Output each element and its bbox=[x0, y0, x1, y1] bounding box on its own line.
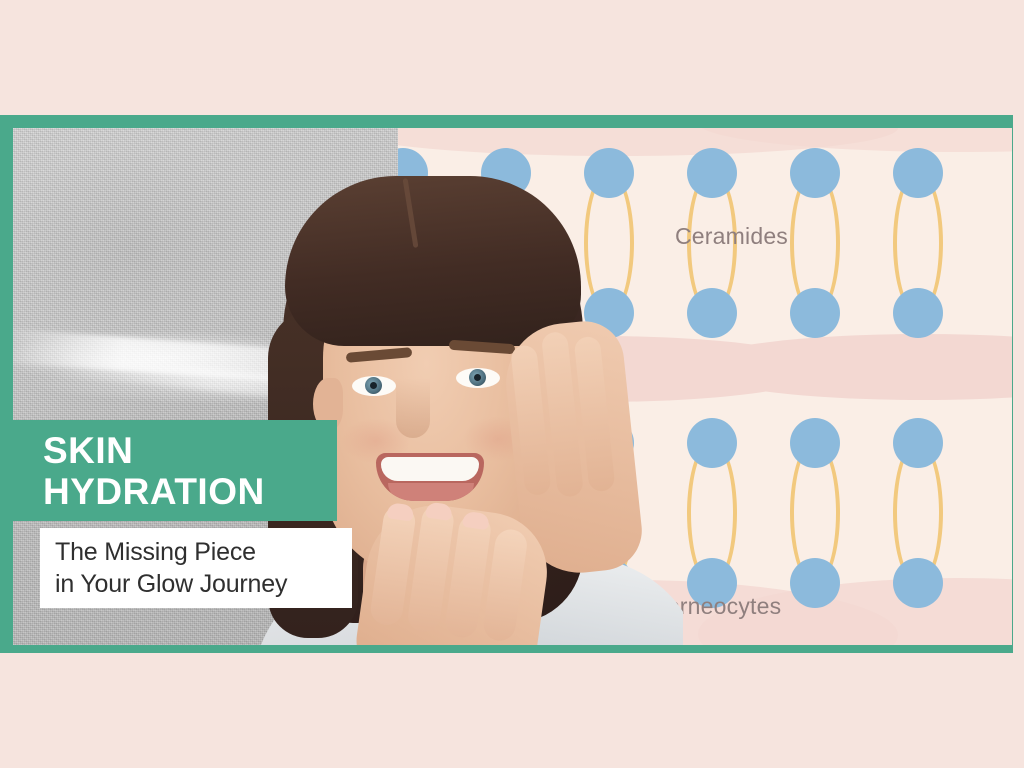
ceramide-head-bottom bbox=[790, 288, 840, 338]
subheadline-line-2: in Your Glow Journey bbox=[55, 568, 352, 600]
portrait-hair-front bbox=[285, 176, 581, 346]
framed-card: Ceramides Corneocytes bbox=[0, 115, 1013, 653]
ceramide-head-top bbox=[687, 148, 737, 198]
headline-line-1: SKIN bbox=[43, 430, 337, 471]
portrait-teeth bbox=[381, 457, 479, 481]
headline-box: SKIN HYDRATION bbox=[13, 420, 337, 521]
ceramide-head-bottom bbox=[687, 288, 737, 338]
subheadline-box: The Missing Piece in Your Glow Journey bbox=[40, 528, 352, 608]
portrait-pupil-right bbox=[474, 374, 481, 381]
portrait-fingernail bbox=[462, 511, 490, 530]
ceramide-unit bbox=[782, 418, 848, 608]
portrait-mouth bbox=[376, 453, 484, 501]
diagram-label-ceramides: Ceramides bbox=[675, 223, 788, 250]
ceramide-head-top bbox=[687, 418, 737, 468]
ceramide-unit bbox=[885, 148, 951, 338]
ceramide-head-bottom bbox=[790, 558, 840, 608]
portrait-pupil-left bbox=[370, 382, 377, 389]
ceramide-head-bottom bbox=[893, 558, 943, 608]
card-inner-canvas: Ceramides Corneocytes bbox=[13, 128, 1012, 645]
ceramide-unit bbox=[782, 148, 848, 338]
ceramide-head-top bbox=[790, 418, 840, 468]
subheadline-line-1: The Missing Piece bbox=[55, 536, 352, 568]
ceramide-head-bottom bbox=[893, 288, 943, 338]
portrait-lower-lip bbox=[388, 483, 474, 501]
ceramide-unit bbox=[885, 418, 951, 608]
headline-line-2: HYDRATION bbox=[43, 471, 337, 512]
portrait-nose bbox=[396, 378, 430, 438]
ceramide-head-top bbox=[790, 148, 840, 198]
ceramide-unit bbox=[679, 418, 745, 608]
ceramide-head-top bbox=[893, 148, 943, 198]
ceramide-head-top bbox=[893, 418, 943, 468]
